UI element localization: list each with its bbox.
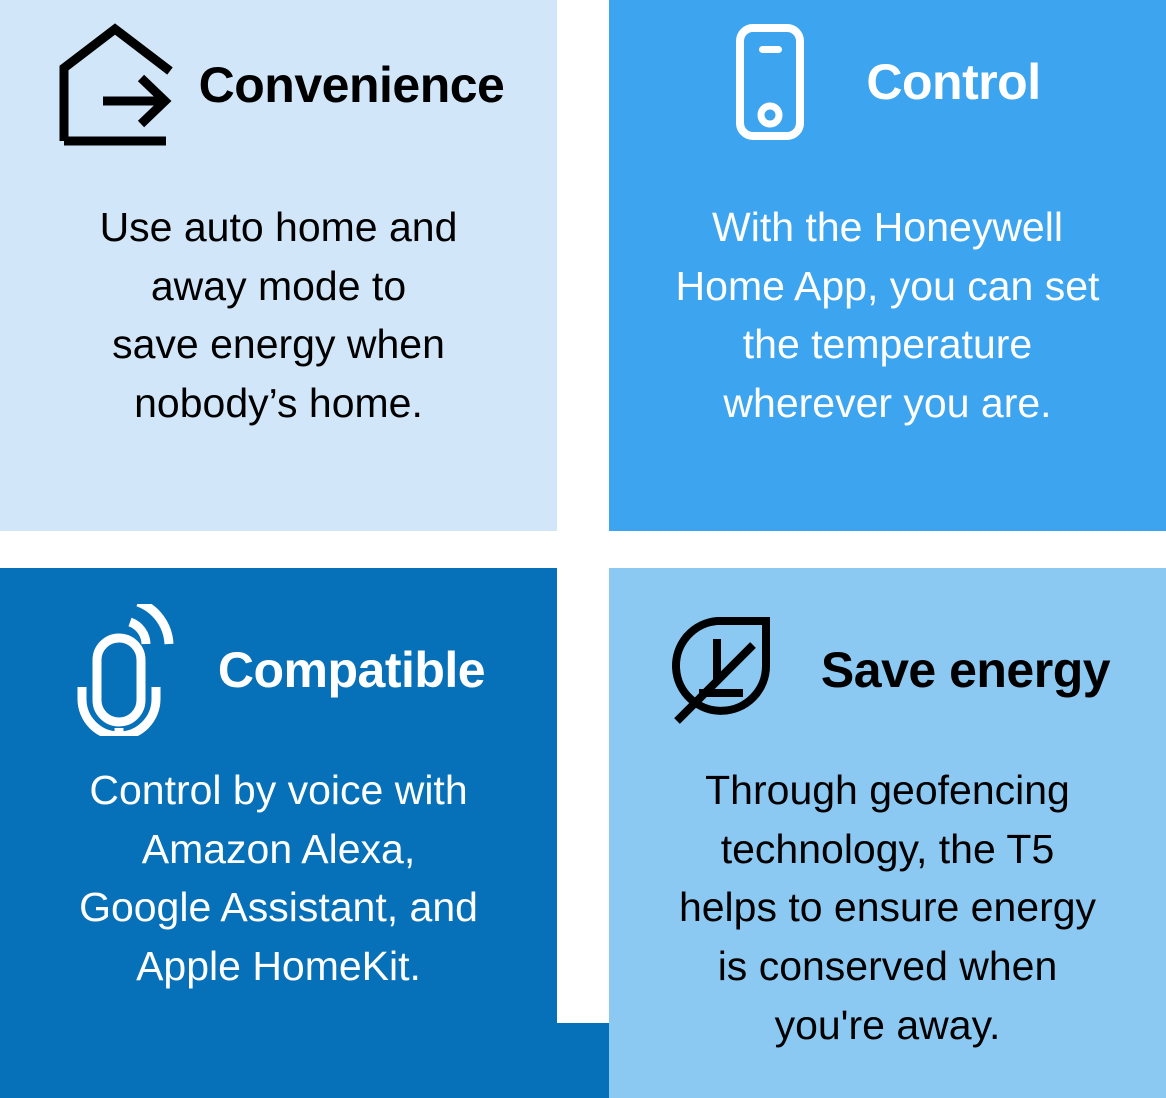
body-line: save energy when: [30, 315, 527, 374]
body-line: nobody’s home.: [30, 374, 527, 433]
body-line: With the Honeywell: [639, 198, 1136, 257]
body-line: technology, the T5: [639, 820, 1136, 879]
feature-card-convenience: Convenience Use auto home and away mode …: [0, 0, 557, 531]
body-line: Control by voice with: [30, 761, 527, 820]
body-line: Google Assistant, and: [30, 878, 527, 937]
card-title-control: Control: [866, 57, 1040, 107]
body-line: Amazon Alexa,: [30, 820, 527, 879]
card-header-save-energy: Save energy: [609, 568, 1166, 743]
card-header-control: Control: [609, 0, 1166, 160]
body-line: Through geofencing: [639, 761, 1136, 820]
feature-card-control: Control With the Honeywell Home App, you…: [609, 0, 1166, 531]
feature-card-save-energy: Save energy Through geofencing technolog…: [609, 568, 1166, 1098]
card-title-compatible: Compatible: [218, 645, 485, 695]
microphone-voice-icon: [72, 604, 178, 736]
card-body-save-energy: Through geofencing technology, the T5 he…: [609, 761, 1166, 1054]
feature-card-compatible-footer: [0, 1023, 609, 1098]
body-line: the temperature: [639, 315, 1136, 374]
card-title-save-energy: Save energy: [821, 645, 1110, 695]
feature-card-compatible: Compatible Control by voice with Amazon …: [0, 568, 557, 1023]
body-line: helps to ensure energy: [639, 878, 1136, 937]
card-body-control: With the Honeywell Home App, you can set…: [609, 198, 1166, 433]
card-header-compatible: Compatible: [0, 568, 557, 743]
body-line: Home App, you can set: [639, 257, 1136, 316]
house-exit-arrow-icon: [53, 23, 173, 148]
leaf-energy-icon: [665, 611, 781, 729]
body-line: Use auto home and: [30, 198, 527, 257]
smartphone-icon: [734, 23, 806, 141]
body-line: wherever you are.: [639, 374, 1136, 433]
card-title-convenience: Convenience: [199, 60, 505, 110]
body-line: is conserved when: [639, 937, 1136, 996]
card-header-convenience: Convenience: [0, 0, 557, 160]
body-line: you're away.: [639, 996, 1136, 1055]
card-body-convenience: Use auto home and away mode to save ener…: [0, 198, 557, 433]
card-body-compatible: Control by voice with Amazon Alexa, Goog…: [0, 761, 557, 996]
body-line: away mode to: [30, 257, 527, 316]
body-line: Apple HomeKit.: [30, 937, 527, 996]
feature-grid: Convenience Use auto home and away mode …: [0, 0, 1166, 1098]
